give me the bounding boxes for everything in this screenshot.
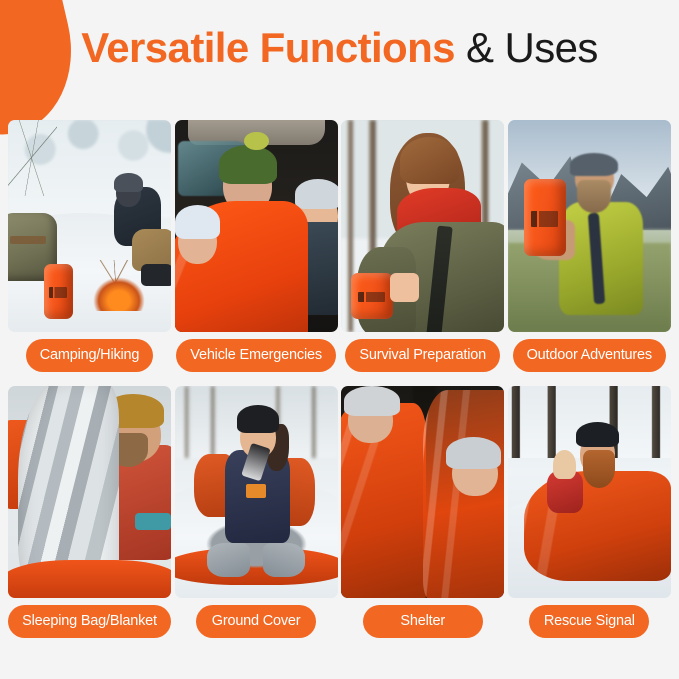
label-vehicle-emergencies[interactable]: Vehicle Emergencies <box>176 339 336 372</box>
use-case-cell-vehicle-emergencies: Vehicle Emergencies <box>175 120 338 378</box>
orange-packed-pouch <box>351 273 393 320</box>
label-shelter[interactable]: Shelter <box>363 605 483 638</box>
use-case-cell-survival-preparation: Survival Preparation <box>341 120 504 378</box>
photo-ground-cover <box>175 386 338 598</box>
photo-sleeping-bag-blanket <box>8 386 171 598</box>
label-camping-hiking[interactable]: Camping/Hiking <box>26 339 154 372</box>
use-case-cell-camping-hiking: Camping/Hiking <box>8 120 171 378</box>
person-right-hat <box>446 437 501 469</box>
photo-outdoor-adventures <box>508 120 671 332</box>
page-title-highlight: Versatile Functions <box>81 24 455 71</box>
page-title: Versatile Functions & Uses <box>0 26 679 70</box>
photo-vehicle-emergencies <box>175 120 338 332</box>
label-rescue-signal[interactable]: Rescue Signal <box>529 605 649 638</box>
label-survival-preparation[interactable]: Survival Preparation <box>345 339 500 372</box>
photo-shelter <box>341 386 504 598</box>
use-case-cell-sleeping-bag-blanket: Sleeping Bag/Blanket <box>8 386 171 644</box>
child-right-hat <box>295 179 337 209</box>
label-wrap-camping-hiking: Camping/Hiking <box>8 332 171 378</box>
brand-logo-mark <box>358 292 385 301</box>
label-wrap-rescue-signal: Rescue Signal <box>508 598 671 644</box>
orange-bag-bottom <box>8 560 171 598</box>
teal-sleeve-cuff <box>135 513 171 530</box>
child-left-hat <box>175 205 221 239</box>
label-ground-cover[interactable]: Ground Cover <box>196 605 316 638</box>
brand-logo-mark <box>531 211 558 226</box>
use-case-cell-outdoor-adventures: Outdoor Adventures <box>508 120 671 378</box>
photo-rescue-signal <box>508 386 671 598</box>
hiker-figure <box>557 158 671 332</box>
hiker-cap <box>570 153 618 177</box>
label-wrap-shelter: Shelter <box>341 598 504 644</box>
photo-survival-preparation <box>341 120 504 332</box>
brand-logo-mark <box>49 287 68 298</box>
woman-hair-front <box>400 137 459 184</box>
infographic-page: Versatile Functions & Uses <box>0 0 679 679</box>
campfire-flame <box>93 277 145 311</box>
label-wrap-ground-cover: Ground Cover <box>175 598 338 644</box>
page-title-rest: & Uses <box>466 24 598 71</box>
use-case-grid: Camping/Hiking Vehicle Emergencies <box>8 120 671 644</box>
label-wrap-vehicle-emergencies: Vehicle Emergencies <box>175 332 338 378</box>
person-left-hat <box>344 386 399 416</box>
label-wrap-survival-preparation: Survival Preparation <box>341 332 504 378</box>
orange-stuff-sack <box>524 179 566 255</box>
red-beard <box>583 450 616 488</box>
orange-stuff-sack <box>44 264 73 319</box>
use-case-cell-ground-cover: Ground Cover <box>175 386 338 644</box>
label-sleeping-bag-blanket[interactable]: Sleeping Bag/Blanket <box>8 605 171 638</box>
thermos-cup <box>246 484 266 499</box>
sapling-branches <box>8 120 57 196</box>
use-case-cell-rescue-signal: Rescue Signal <box>508 386 671 644</box>
black-beanie <box>576 422 618 447</box>
hiker-beard <box>577 180 611 213</box>
woman-pom-beanie <box>219 145 278 183</box>
thumbs-up-icon <box>553 450 576 480</box>
sock-left <box>207 543 249 577</box>
black-beanie <box>237 405 279 433</box>
label-wrap-outdoor-adventures: Outdoor Adventures <box>508 332 671 378</box>
use-case-cell-shelter: Shelter <box>341 386 504 644</box>
sock-right <box>263 543 305 577</box>
label-wrap-sleeping-bag-blanket: Sleeping Bag/Blanket <box>8 598 171 644</box>
camper-beanie <box>114 173 142 193</box>
photo-camping-hiking <box>8 120 171 332</box>
label-outdoor-adventures[interactable]: Outdoor Adventures <box>513 339 666 372</box>
woman-hand <box>390 273 419 303</box>
